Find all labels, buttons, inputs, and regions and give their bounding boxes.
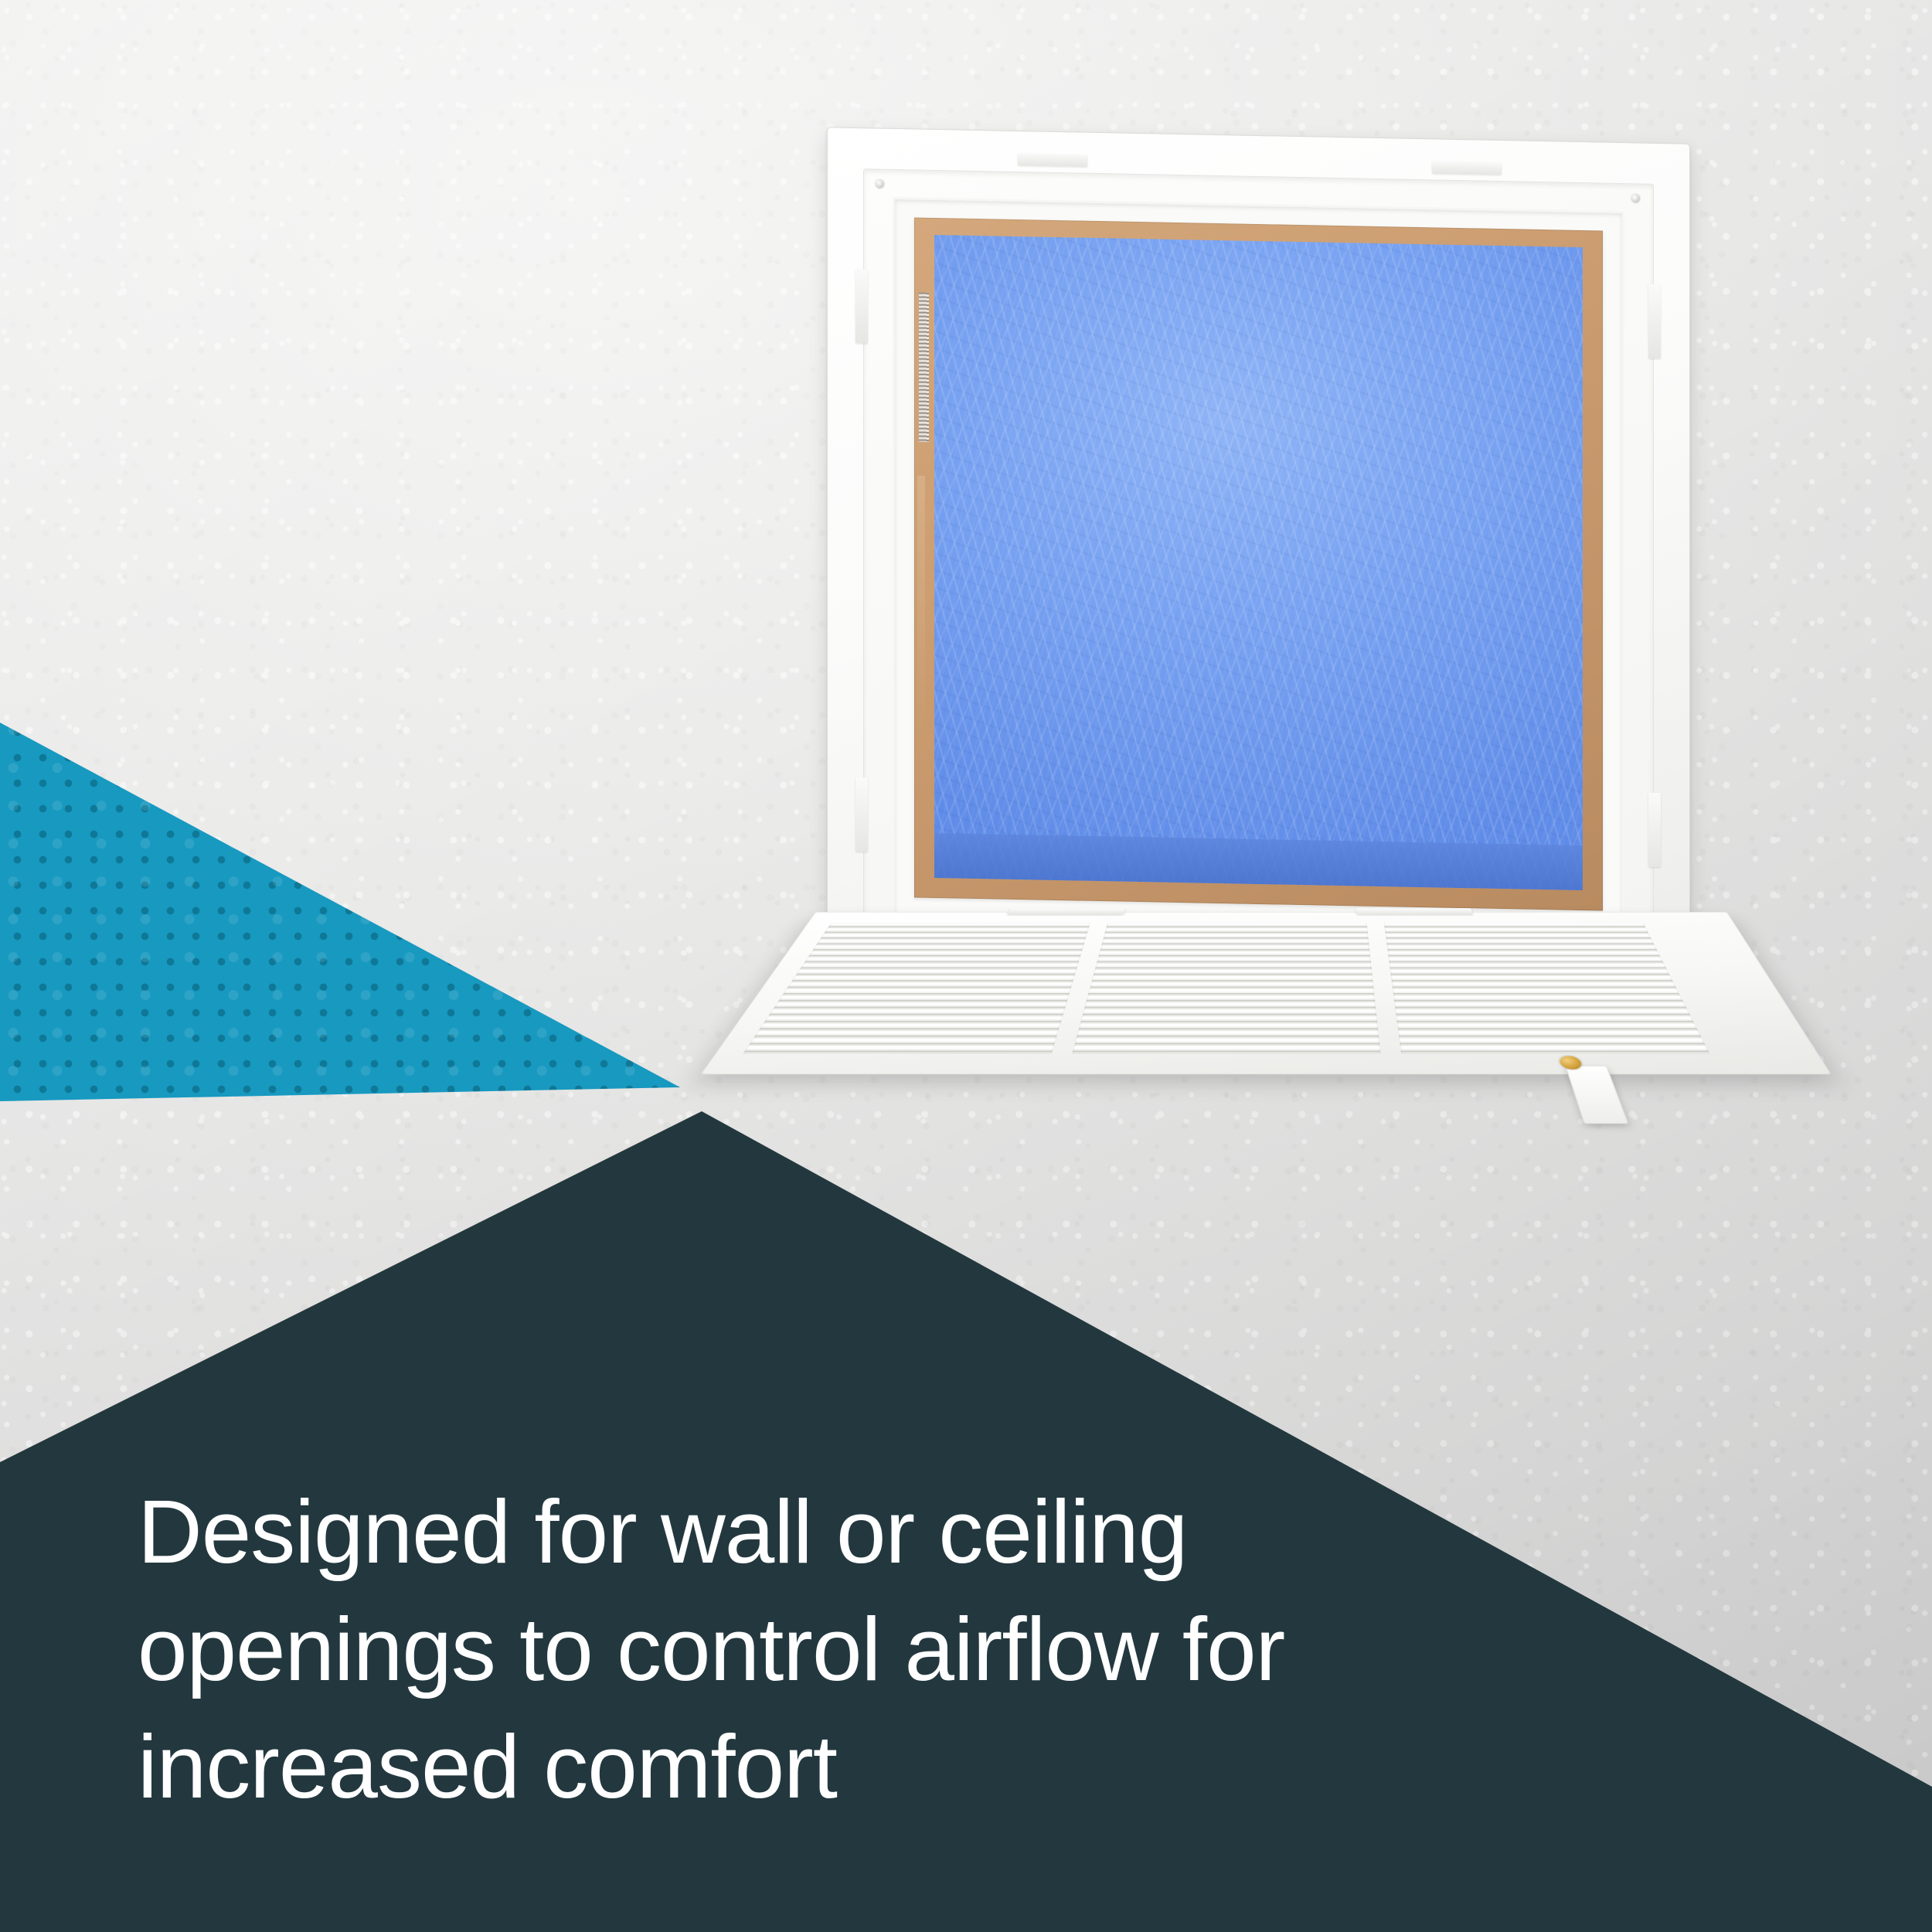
retainer-tab [1648, 284, 1661, 359]
retainer-tab [1018, 153, 1087, 167]
door-hinge [1007, 908, 1125, 914]
louver-section [1072, 923, 1380, 1053]
caption-text: Designed for wall or ceiling openings to… [138, 1473, 1374, 1825]
louvered-door[interactable] [700, 912, 1832, 1074]
filter-side-label [917, 476, 925, 748]
door-hinge [1356, 908, 1473, 914]
filter-cardboard-frame [914, 217, 1603, 910]
product-marketing-image: Designed for wall or ceiling openings to… [0, 0, 1932, 1932]
screw-icon [1631, 194, 1640, 202]
screw-icon [876, 179, 884, 188]
filter-barcode-label [919, 292, 929, 442]
grille-housing [827, 127, 1690, 995]
filter-media [934, 235, 1583, 890]
return-air-filter-grille [827, 135, 1747, 1163]
retainer-tab [1648, 793, 1661, 867]
retainer-tab [1432, 161, 1502, 175]
retainer-tab [855, 777, 868, 852]
retainer-tab [855, 269, 868, 343]
filter-fiber-texture [934, 235, 1583, 890]
